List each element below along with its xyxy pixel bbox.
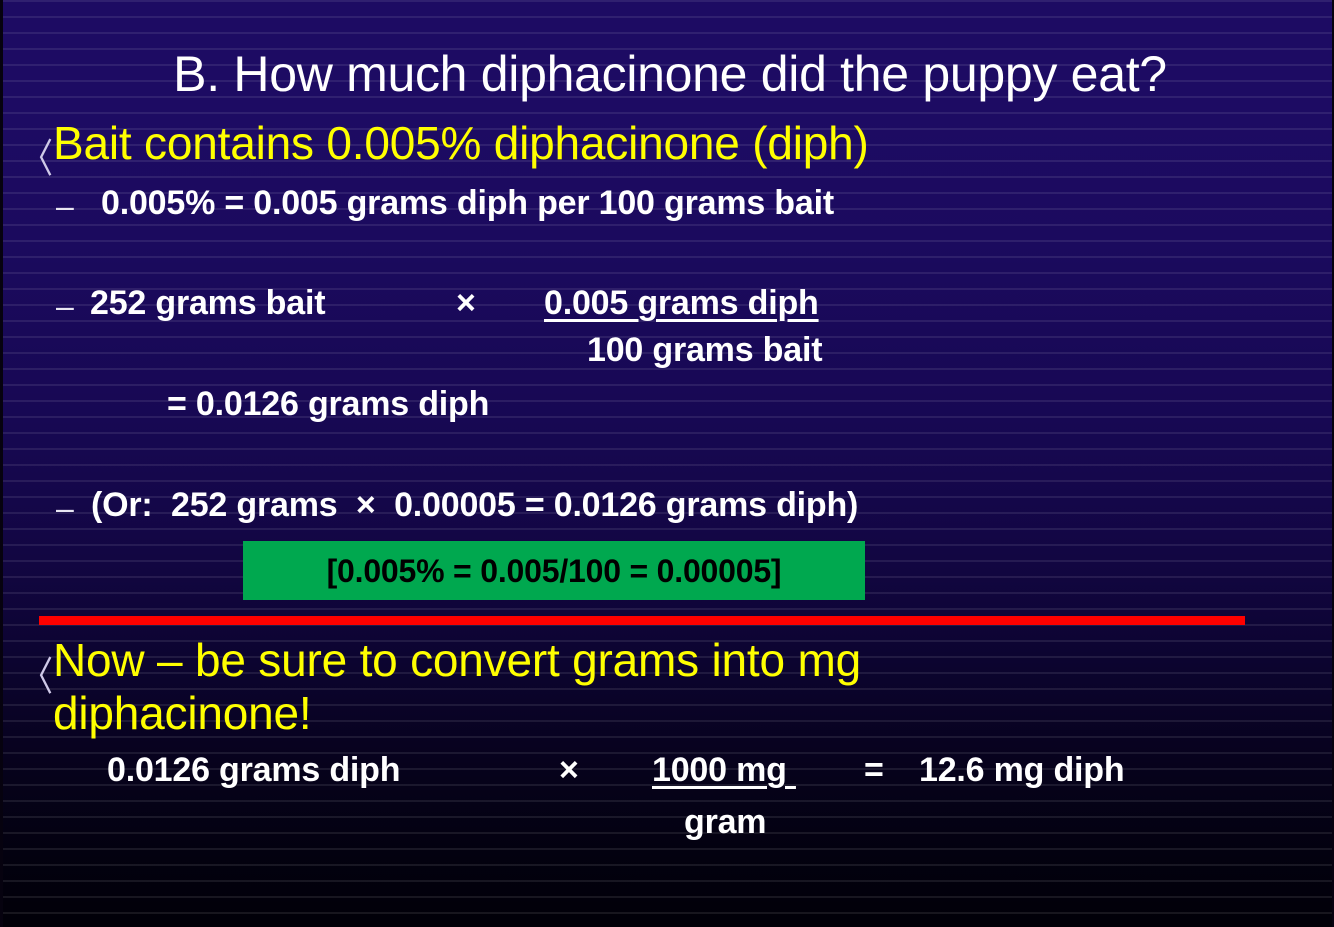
convert-note-line-2: diphacinone! [53,690,311,736]
page-title: B. How much diphacinone did the puppy ea… [3,49,1334,99]
bullet-marker-chevron-icon: 〈 [21,126,53,184]
sub-bullet-percent-definition: 0.005% = 0.005 grams diph per 100 grams … [101,186,834,220]
equation-3-operator: × [559,753,579,787]
equation-3-left-term: 0.0126 grams diph [107,753,400,787]
divider-rule [39,616,1245,625]
equation-3-denominator: gram [684,805,766,839]
bullet-bait-contains: Bait contains 0.005% diphacinone (diph) [53,120,869,166]
equation-1-result: = 0.0126 grams diph [167,387,489,421]
equation-3-result: 12.6 mg diph [919,753,1124,787]
equation-2-alternative: (Or: 252 grams × 0.00005 = 0.0126 grams … [91,488,858,522]
equation-1-numerator: 0.005 grams diph [544,286,819,320]
bullet-marker-chevron-icon-2: 〈 [21,644,53,702]
convert-note-line-1: Now – be sure to convert grams into mg [53,637,861,683]
equation-3-numerator: 1000 mg [652,753,796,787]
equation-1-operator: × [456,286,476,320]
equation-1-dash-icon: – [56,288,74,325]
equation-2-dash-icon: – [56,490,74,527]
slide-canvas: B. How much diphacinone did the puppy ea… [0,0,1334,927]
equation-3-equals: = [864,753,884,787]
equation-1-denominator: 100 grams bait [587,333,822,367]
equation-1-left-term: 252 grams bait [90,286,325,320]
highlight-box: [0.005% = 0.005/100 = 0.00005] [243,541,865,600]
highlight-box-text: [0.005% = 0.005/100 = 0.00005] [327,555,782,587]
sub-bullet-dash-icon: – [56,188,74,225]
